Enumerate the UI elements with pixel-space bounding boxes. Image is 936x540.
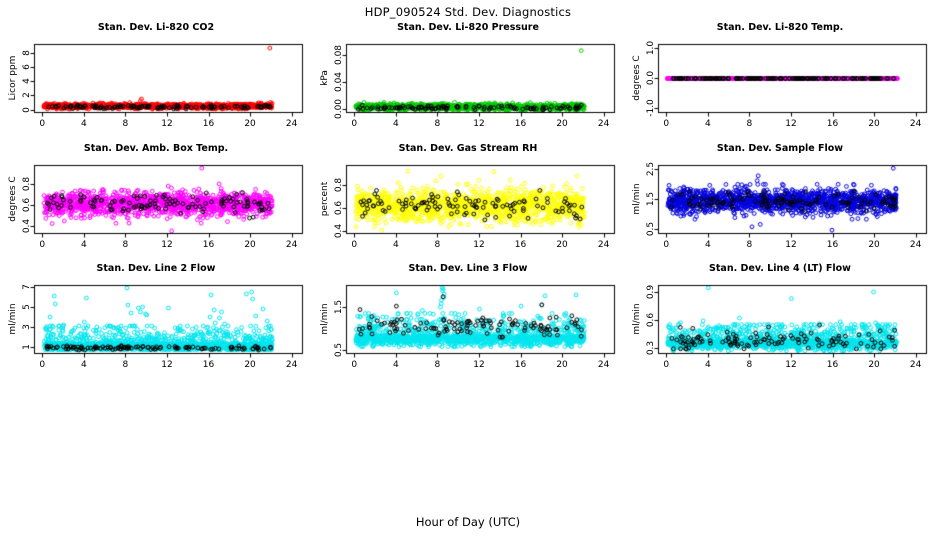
ytick-label: 0.08	[334, 45, 344, 65]
xtick-label: 4	[69, 360, 99, 370]
ytick-label: 8	[22, 50, 32, 56]
yaxis-label-gas-stream-rh: percent	[320, 182, 330, 216]
ytick-label: 0.8	[334, 178, 344, 192]
plot-panel-line3-flow: Stan. Dev. Line 3 Flowml/min0.51.5048121…	[312, 263, 624, 383]
ytick-label: 0.3	[646, 341, 656, 355]
yaxis-label-line4-lt-flow: ml/min	[632, 303, 642, 334]
xtick-label: 16	[506, 360, 536, 370]
xtick-label: 20	[859, 119, 889, 129]
ytick-label: 0.5	[646, 222, 656, 236]
xtick-label: 16	[818, 240, 848, 250]
xtick-label: 8	[110, 119, 140, 129]
yaxis-label-line3-flow: ml/min	[320, 303, 330, 334]
xtick-label: 8	[110, 240, 140, 250]
ytick-label: 0.04	[334, 72, 344, 92]
ytick-label: 0.4	[334, 224, 344, 238]
xtick-label: 12	[776, 360, 806, 370]
xtick-label: 16	[506, 119, 536, 129]
ytick-label: 4	[22, 78, 32, 84]
ytick-label: 2.5	[646, 161, 656, 175]
plot-panel-line4-lt-flow: Stan. Dev. Line 4 (LT) Flowml/min0.30.60…	[624, 263, 936, 383]
ytick-label: 0.6	[334, 201, 344, 215]
plot-panel-li820-temp: Stan. Dev. Li-820 Temp.degrees C-1.00.01…	[624, 22, 936, 142]
xtick-label: 4	[693, 240, 723, 250]
xtick-label: 12	[152, 360, 182, 370]
plot-panel-amb-box-temp: Stan. Dev. Amb. Box Temp.degrees C0.40.6…	[0, 143, 312, 263]
yaxis-label-li820-pressure: kPa	[320, 70, 330, 86]
plot-panel-li820-pressure: Stan. Dev. Li-820 PressurekPa0.000.040.0…	[312, 22, 624, 142]
yaxis-label-li820-co2: Licor ppm	[8, 56, 18, 101]
xtick-label: 24	[277, 240, 307, 250]
plot-panel-sample-flow: Stan. Dev. Sample Flowml/min0.51.52.5048…	[624, 143, 936, 263]
xtick-label: 12	[776, 119, 806, 129]
ytick-label: 1.0	[646, 40, 656, 54]
xtick-label: 12	[464, 119, 494, 129]
xtick-label: 4	[381, 240, 411, 250]
figure-title: HDP_090524 Std. Dev. Diagnostics	[0, 5, 936, 19]
xtick-label: 24	[277, 119, 307, 129]
xtick-label: 4	[69, 119, 99, 129]
xtick-label: 8	[734, 240, 764, 250]
xtick-label: 8	[422, 119, 452, 129]
plot-panel-line2-flow: Stan. Dev. Line 2 Flowml/min135704812162…	[0, 263, 312, 383]
xtick-label: 20	[859, 360, 889, 370]
xtick-label: 0	[339, 360, 369, 370]
ytick-label: 0.6	[22, 198, 32, 212]
xtick-label: 16	[818, 119, 848, 129]
xtick-label: 4	[693, 119, 723, 129]
yaxis-label-sample-flow: ml/min	[632, 183, 642, 214]
xtick-label: 16	[506, 240, 536, 250]
xtick-label: 20	[235, 240, 265, 250]
xtick-label: 16	[194, 360, 224, 370]
xtick-label: 0	[27, 240, 57, 250]
xtick-label: 24	[901, 240, 931, 250]
ytick-label: 0.6	[646, 313, 656, 327]
figure-xaxis-title: Hour of Day (UTC)	[0, 515, 936, 529]
xtick-label: 24	[589, 360, 619, 370]
ytick-label: 2	[22, 92, 32, 98]
ytick-label: 5	[22, 304, 32, 310]
xtick-label: 8	[734, 360, 764, 370]
xtick-label: 0	[339, 240, 369, 250]
xtick-label: 0	[27, 119, 57, 129]
xtick-label: 12	[464, 240, 494, 250]
plot-panel-li820-co2: Stan. Dev. Li-820 CO2Licor ppm0246804812…	[0, 22, 312, 142]
ytick-label: 0.5	[334, 342, 344, 356]
xtick-label: 20	[859, 240, 889, 250]
ytick-label: 0.4	[22, 219, 32, 233]
xtick-label: 8	[422, 240, 452, 250]
ytick-label: 0.8	[22, 177, 32, 191]
xtick-label: 24	[589, 119, 619, 129]
xtick-label: 16	[194, 119, 224, 129]
xtick-label: 24	[589, 240, 619, 250]
xtick-label: 12	[776, 240, 806, 250]
xtick-label: 20	[547, 360, 577, 370]
ytick-label: 1	[22, 344, 32, 350]
xtick-label: 0	[651, 360, 681, 370]
xtick-label: 20	[235, 119, 265, 129]
xtick-label: 8	[110, 360, 140, 370]
xtick-label: 4	[381, 360, 411, 370]
xtick-label: 12	[152, 240, 182, 250]
ytick-label: 0.0	[646, 71, 656, 85]
ytick-label: 0	[22, 107, 32, 113]
ytick-label: 6	[22, 64, 32, 70]
xtick-label: 24	[277, 360, 307, 370]
xtick-label: 12	[464, 360, 494, 370]
ytick-label: 3	[22, 324, 32, 330]
xtick-label: 4	[693, 360, 723, 370]
ytick-label: -1.0	[646, 100, 656, 118]
xtick-label: 20	[547, 240, 577, 250]
ytick-label: 1.5	[334, 299, 344, 313]
yaxis-label-line2-flow: ml/min	[8, 303, 18, 334]
yaxis-label-li820-temp: degrees C	[632, 55, 642, 100]
xtick-label: 12	[152, 119, 182, 129]
ytick-label: 0.9	[646, 285, 656, 299]
xtick-label: 16	[818, 360, 848, 370]
xtick-label: 24	[901, 119, 931, 129]
plot-panel-gas-stream-rh: Stan. Dev. Gas Stream RHpercent0.40.60.8…	[312, 143, 624, 263]
xtick-label: 8	[422, 360, 452, 370]
xtick-label: 0	[651, 119, 681, 129]
xtick-label: 0	[27, 360, 57, 370]
xtick-label: 16	[194, 240, 224, 250]
yaxis-label-amb-box-temp: degrees C	[8, 176, 18, 221]
xtick-label: 4	[69, 240, 99, 250]
ytick-label: 1.5	[646, 192, 656, 206]
xtick-label: 20	[547, 119, 577, 129]
xtick-label: 20	[235, 360, 265, 370]
xtick-label: 24	[901, 360, 931, 370]
xtick-label: 8	[734, 119, 764, 129]
ytick-label: 7	[22, 284, 32, 290]
xtick-label: 0	[339, 119, 369, 129]
xtick-label: 4	[381, 119, 411, 129]
ytick-label: 0.00	[334, 99, 344, 119]
xtick-label: 0	[651, 240, 681, 250]
